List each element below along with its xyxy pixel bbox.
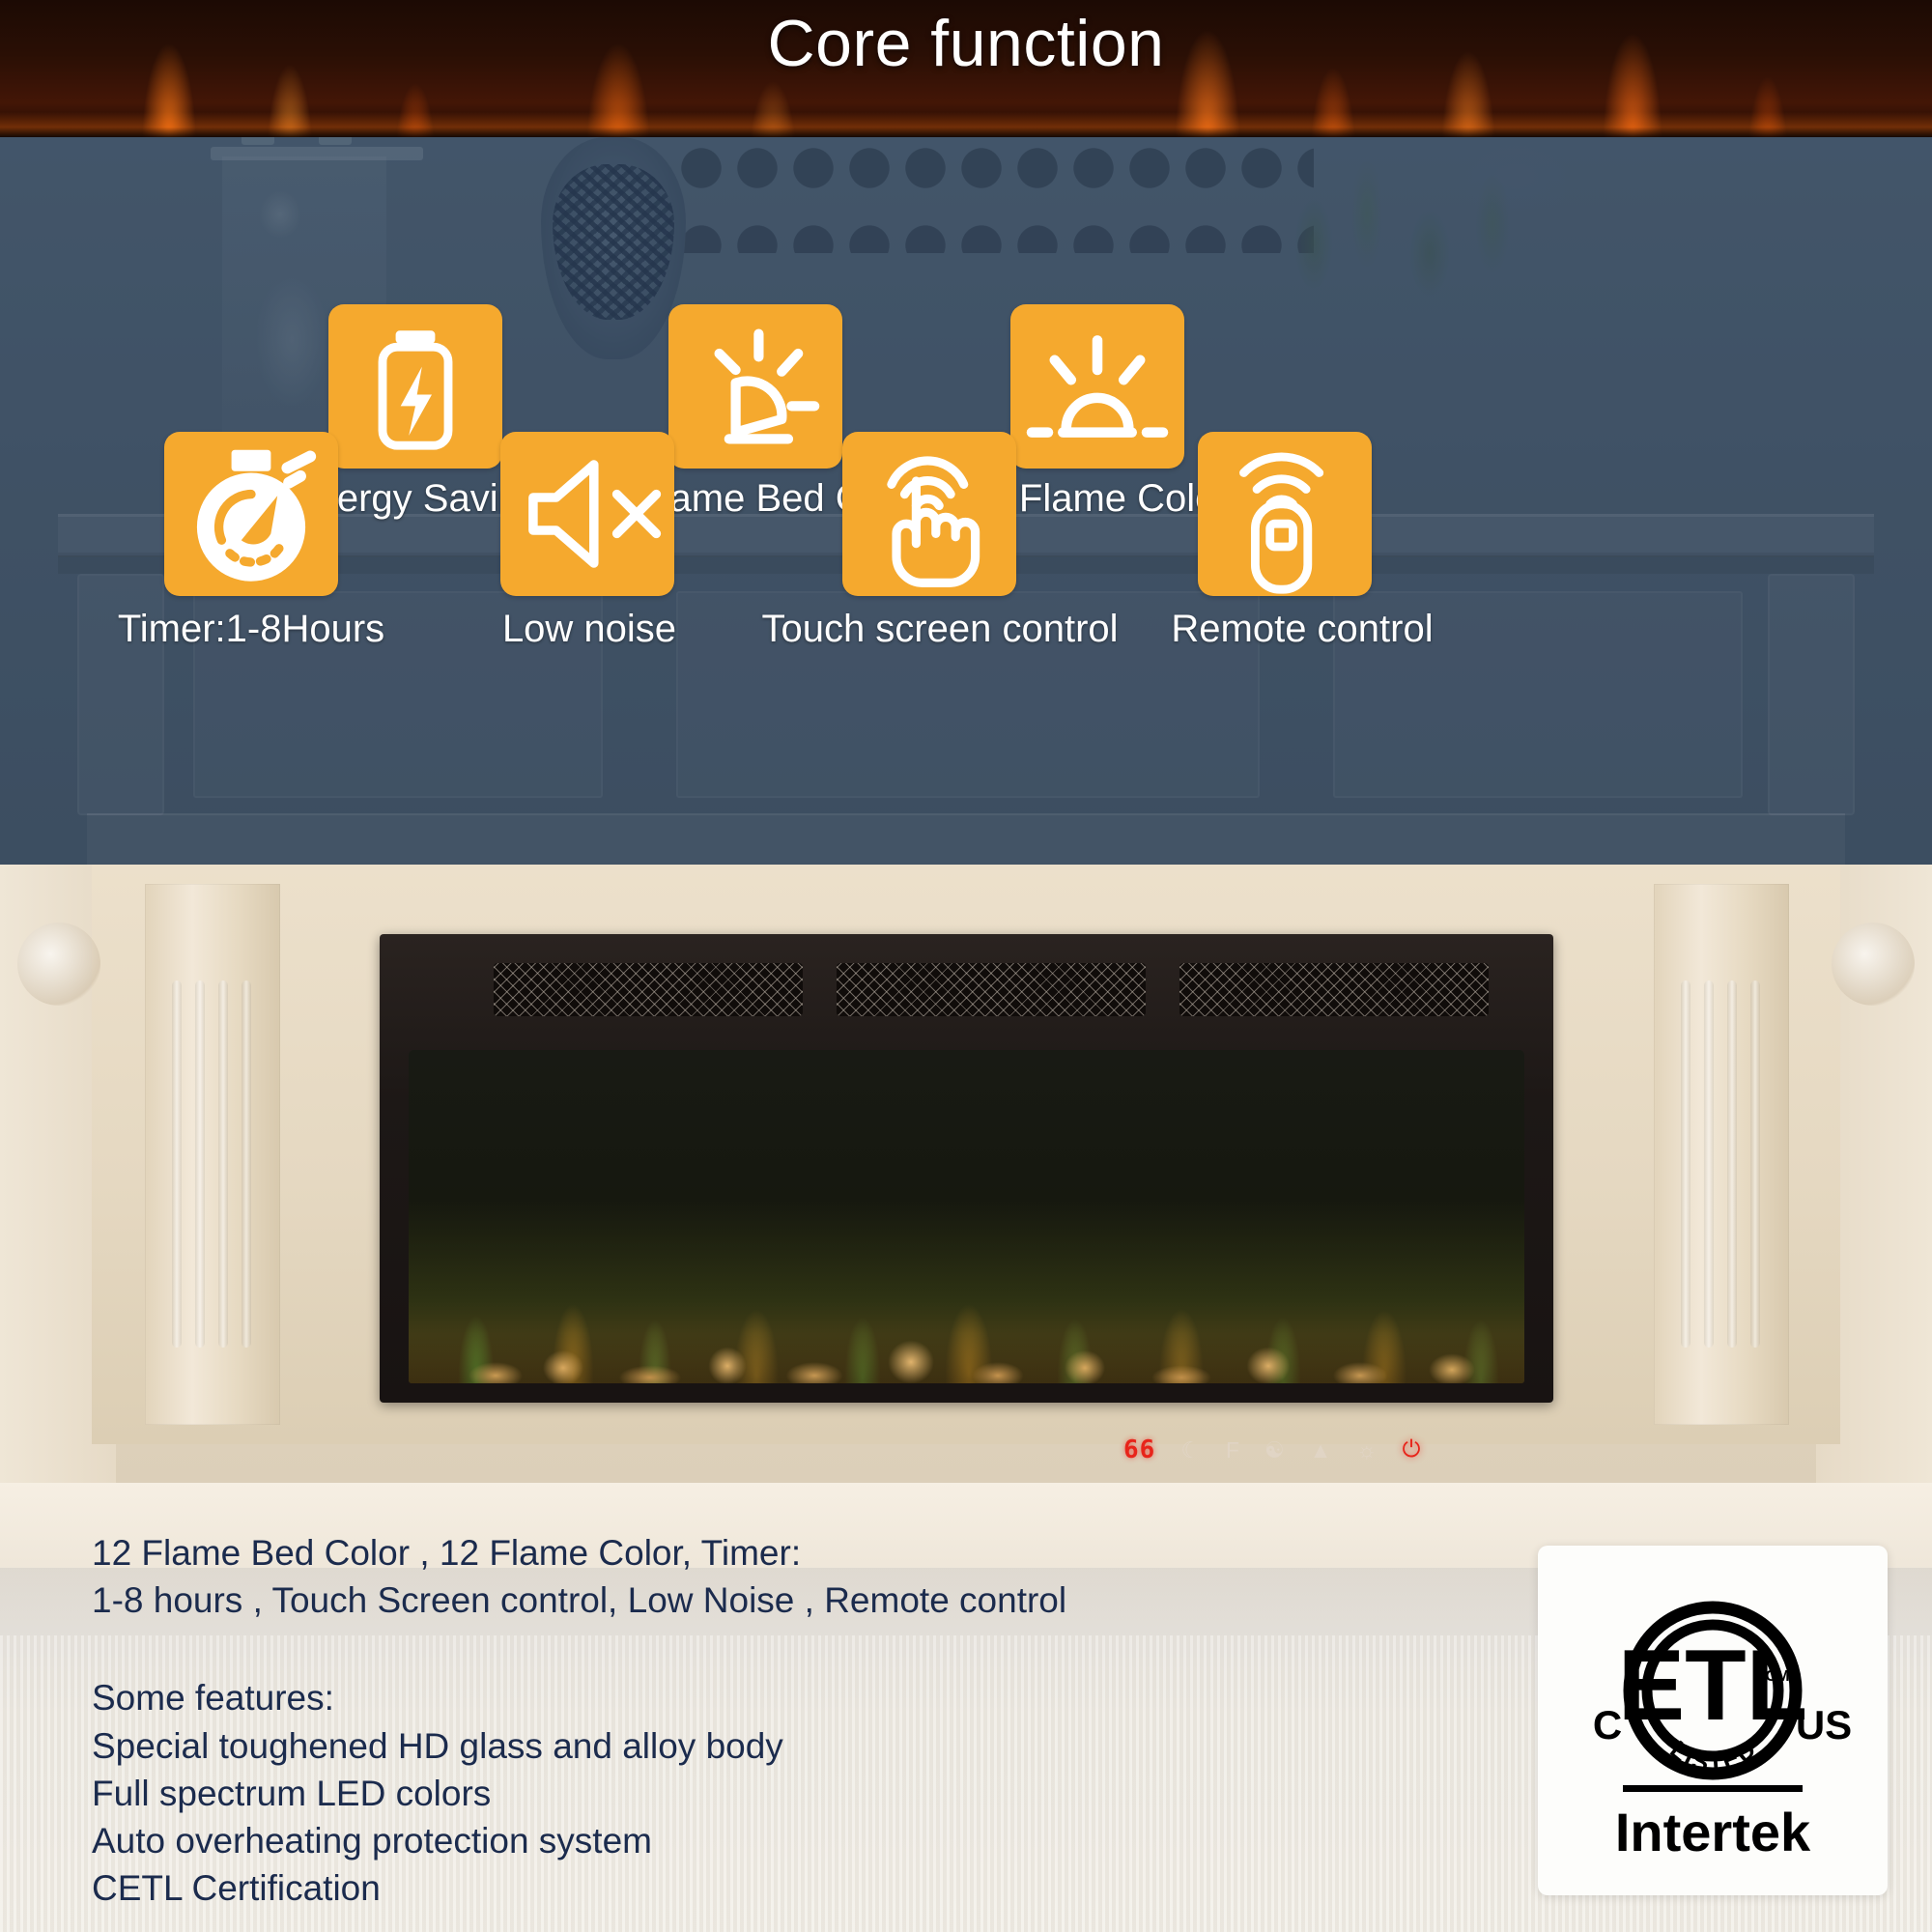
feature-grid: Energy Saving 12 Flame Bed Color	[0, 137, 1932, 865]
carved-ornament-left	[17, 923, 100, 1006]
summary-paragraph: 12 Flame Bed Color , 12 Flame Color, Tim…	[92, 1529, 1444, 1624]
core-function-panel: Energy Saving 12 Flame Bed Color	[0, 137, 1932, 865]
flame-icon[interactable]: ▲	[1310, 1439, 1332, 1462]
etl-intertek-certification-badge: ETL CM C US LISTED Intertek	[1538, 1546, 1888, 1895]
touch-control-panel[interactable]: 66 ☾ F ☯ ▲ ☼ ⏻	[1123, 1434, 1529, 1466]
page-title: Core function	[0, 6, 1932, 81]
etl-trademark-text: CM	[1766, 1668, 1790, 1685]
features-list: Some features: Special toughened HD glas…	[92, 1674, 1444, 1912]
feature-label-timer: Timer:1-8Hours	[58, 608, 444, 651]
fahrenheit-icon[interactable]: F	[1226, 1439, 1239, 1462]
feature-label-touch-control: Touch screen control	[752, 608, 1128, 651]
feature-label-remote-control: Remote control	[1128, 608, 1476, 651]
flute-l2	[195, 980, 205, 1348]
summary-line-2: 1-8 hours , Touch Screen control, Low No…	[92, 1580, 1066, 1620]
feature-item-glass: Special toughened HD glass and alloy bod…	[92, 1722, 1444, 1770]
feature-label-low-noise: Low noise	[415, 608, 763, 651]
feature-item-led: Full spectrum LED colors	[92, 1770, 1444, 1817]
vent-left	[494, 963, 803, 1016]
description-text: 12 Flame Bed Color , 12 Flame Color, Tim…	[92, 1529, 1444, 1912]
pillar-right	[1654, 884, 1789, 1425]
temperature-display: 66	[1123, 1435, 1155, 1464]
flute-l4	[241, 980, 251, 1348]
flute-r2	[1704, 980, 1714, 1348]
product-photo: 66 ☾ F ☯ ▲ ☼ ⏻	[0, 865, 1932, 1483]
brightness-half-sun-icon	[668, 304, 842, 469]
flute-r4	[1750, 980, 1760, 1348]
flute-r1	[1681, 980, 1690, 1348]
flute-l3	[218, 980, 228, 1348]
remote-control-icon	[1198, 432, 1372, 596]
flute-r3	[1727, 980, 1737, 1348]
electric-fireplace-unit: 66 ☾ F ☯ ▲ ☼ ⏻	[380, 934, 1553, 1403]
speaker-mute-icon	[500, 432, 674, 596]
tempered-glass-panel	[409, 1050, 1524, 1383]
etl-c-region-text: C	[1593, 1702, 1622, 1747]
carved-ornament-right	[1832, 923, 1915, 1006]
etl-mark-text: ETL	[1618, 1630, 1807, 1742]
etl-us-region-text: US	[1796, 1702, 1852, 1747]
header-banner: Core function	[0, 0, 1932, 137]
log-ember-bed	[409, 1333, 1524, 1383]
battery-charge-icon	[328, 304, 502, 469]
stopwatch-timer-icon	[164, 432, 338, 596]
feature-item-overheat: Auto overheating protection system	[92, 1817, 1444, 1864]
sunrise-icon	[1010, 304, 1184, 469]
timer-moon-icon[interactable]: ☾	[1180, 1439, 1201, 1462]
summary-line-1: 12 Flame Bed Color , 12 Flame Color, Tim…	[92, 1533, 801, 1573]
features-heading: Some features:	[92, 1674, 1444, 1721]
brightness-icon[interactable]: ☼	[1356, 1439, 1377, 1462]
vent-right	[1179, 963, 1489, 1016]
vent-center	[837, 963, 1146, 1016]
flute-l1	[172, 980, 182, 1348]
power-icon[interactable]: ⏻	[1402, 1436, 1420, 1463]
heat-waves-icon[interactable]: ☯	[1264, 1439, 1285, 1462]
hand-tap-icon	[842, 432, 1016, 596]
ember-glow	[0, 112, 1932, 137]
intertek-company-text: Intertek	[1615, 1802, 1811, 1862]
feature-item-cetl: CETL Certification	[92, 1864, 1444, 1912]
badge-divider	[1623, 1785, 1803, 1792]
product-infographic: Core function	[0, 0, 1932, 1932]
pillar-left	[145, 884, 280, 1425]
